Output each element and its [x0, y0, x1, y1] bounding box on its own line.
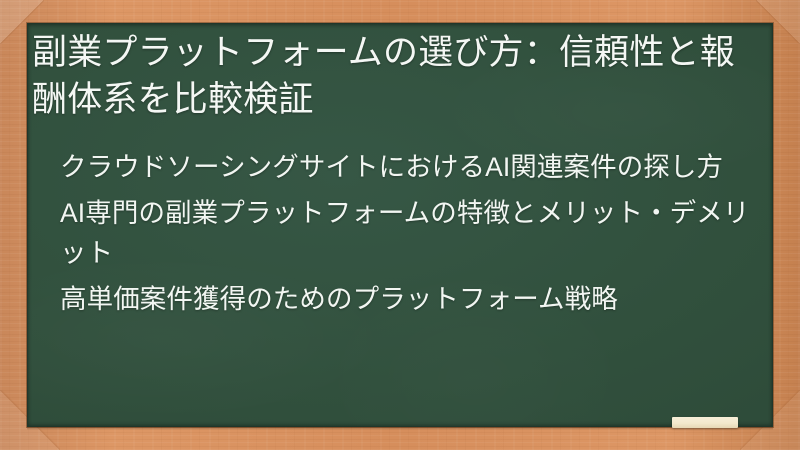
- list-item: クラウドソーシングサイトにおけるAI関連案件の探し方: [32, 147, 752, 187]
- chalkboard-slide: 副業プラットフォームの選び方：信頼性と報酬体系を比較検証 クラウドソーシングサイ…: [0, 0, 800, 450]
- page-title: 副業プラットフォームの選び方：信頼性と報酬体系を比較検証: [32, 29, 750, 123]
- topic-list: クラウドソーシングサイトにおけるAI関連案件の探し方 AI専門の副業プラットフォ…: [32, 147, 752, 325]
- chalk-eraser-icon: [672, 417, 738, 428]
- list-item: AI専門の副業プラットフォームの特徴とメリット・デメリット: [32, 193, 752, 273]
- chalkboard-surface: 副業プラットフォームの選び方：信頼性と報酬体系を比較検証 クラウドソーシングサイ…: [27, 23, 773, 427]
- slide-content: 副業プラットフォームの選び方：信頼性と報酬体系を比較検証 クラウドソーシングサイ…: [27, 23, 773, 427]
- list-item: 高単価案件獲得のためのプラットフォーム戦略: [32, 279, 752, 319]
- board-ledge-shadow: [27, 427, 773, 430]
